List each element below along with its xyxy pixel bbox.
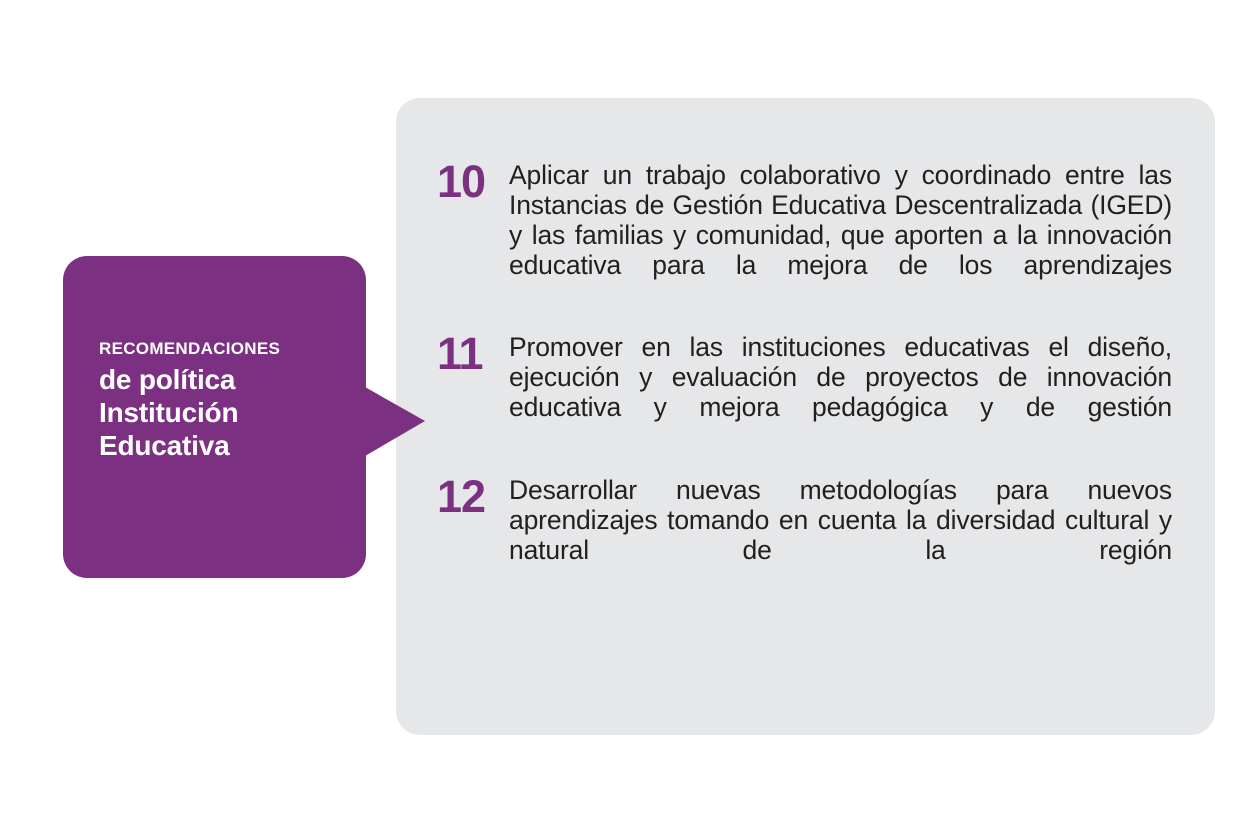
recommendation-text: Desarrollar nuevas metodologías para nue…	[509, 475, 1172, 595]
callout-title: de política Institución Educativa	[99, 363, 359, 462]
callout-title-line-1: de política	[99, 363, 359, 396]
recommendation-list: 10 Aplicar un trabajo colaborativo y coo…	[437, 160, 1172, 617]
callout-arrow-icon	[365, 387, 425, 456]
recommendation-text: Promover en las instituciones educativas…	[509, 332, 1172, 452]
list-item: 12 Desarrollar nuevas metodologías para …	[437, 475, 1172, 595]
recommendation-number: 10	[437, 160, 509, 202]
callout-title-line-2: Institución	[99, 396, 359, 429]
recommendation-number: 12	[437, 475, 509, 517]
callout-title-line-3: Educativa	[99, 429, 359, 462]
callout-text-group: RECOMENDACIONES de política Institución …	[99, 340, 359, 462]
recommendation-text: Aplicar un trabajo colaborativo y coordi…	[509, 160, 1172, 310]
infographic-root: RECOMENDACIONES de política Institución …	[0, 0, 1251, 829]
callout-eyebrow-label: RECOMENDACIONES	[99, 340, 359, 359]
list-item: 11 Promover en las instituciones educati…	[437, 332, 1172, 452]
recommendation-number: 11	[437, 332, 509, 374]
list-item: 10 Aplicar un trabajo colaborativo y coo…	[437, 160, 1172, 310]
